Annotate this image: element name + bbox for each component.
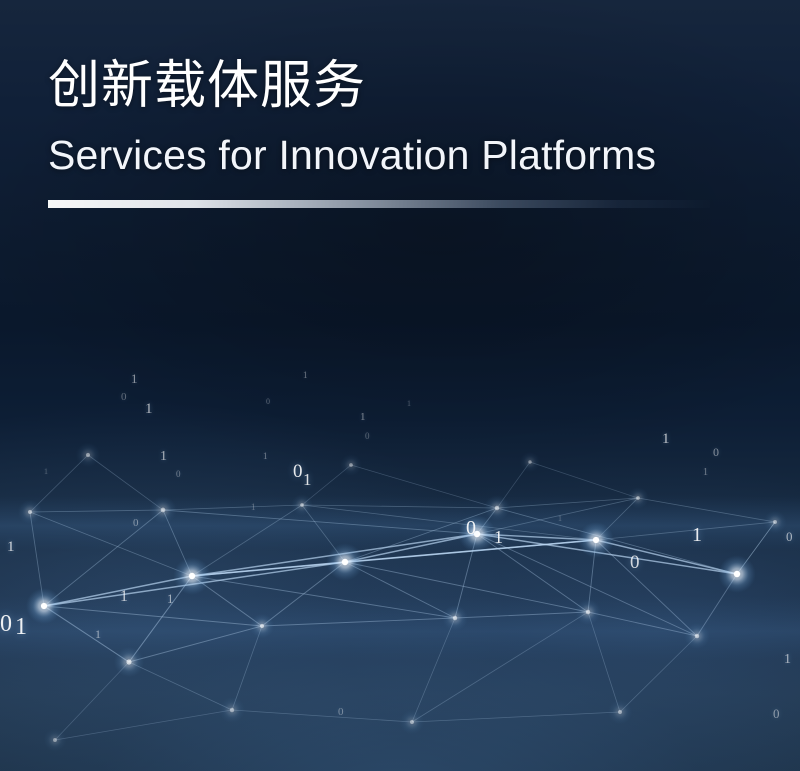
binary-digit: 1 [692,525,702,545]
binary-digit: 1 [7,540,15,555]
page-title-english: Services for Innovation Platforms [48,131,656,180]
binary-digit: 0 [266,398,270,406]
binary-digit: 0 [773,707,780,720]
binary-digit: 0 [293,462,303,481]
page-title-chinese: 创新载体服务 [48,56,656,117]
binary-digit: 1 [703,468,708,478]
binary-digit: 1 [167,592,174,605]
binary-digit: 0 [786,530,793,543]
binary-digit: 1 [303,471,312,488]
binary-digit: 1 [251,503,256,512]
title-divider-bar [48,200,710,208]
binary-digit: 1 [120,589,128,605]
binary-digit: 0 [713,446,719,458]
innovation-platforms-banner: 1011010101011101110110110101010011 创新载体服… [0,0,800,771]
binary-digit: 0 [121,392,127,403]
binary-digit: 1 [145,402,153,417]
binary-digit: 1 [360,412,366,423]
binary-digit: 0 [133,518,139,529]
binary-digit: 1 [263,452,268,461]
banner-header: 创新载体服务 Services for Innovation Platforms [48,56,656,181]
binary-digit: 1 [160,450,167,464]
binary-digit: 1 [303,371,308,380]
binary-digit: 0 [630,553,640,572]
binary-digit: 1 [15,615,27,639]
binary-digit: 1 [558,515,562,523]
binary-digit: 0 [466,518,476,538]
binary-digit: 1 [131,372,138,385]
binary-digit: 0 [0,612,12,636]
binary-digit: 1 [44,468,48,476]
binary-digit: 1 [95,628,101,640]
binary-digit: 0 [338,707,344,718]
binary-digit: 1 [662,432,670,447]
binary-digit: 0 [365,432,370,441]
binary-digit: 1 [784,653,791,667]
binary-digit: 1 [407,400,411,408]
binary-digit: 1 [494,528,503,546]
binary-digit: 0 [176,470,181,479]
